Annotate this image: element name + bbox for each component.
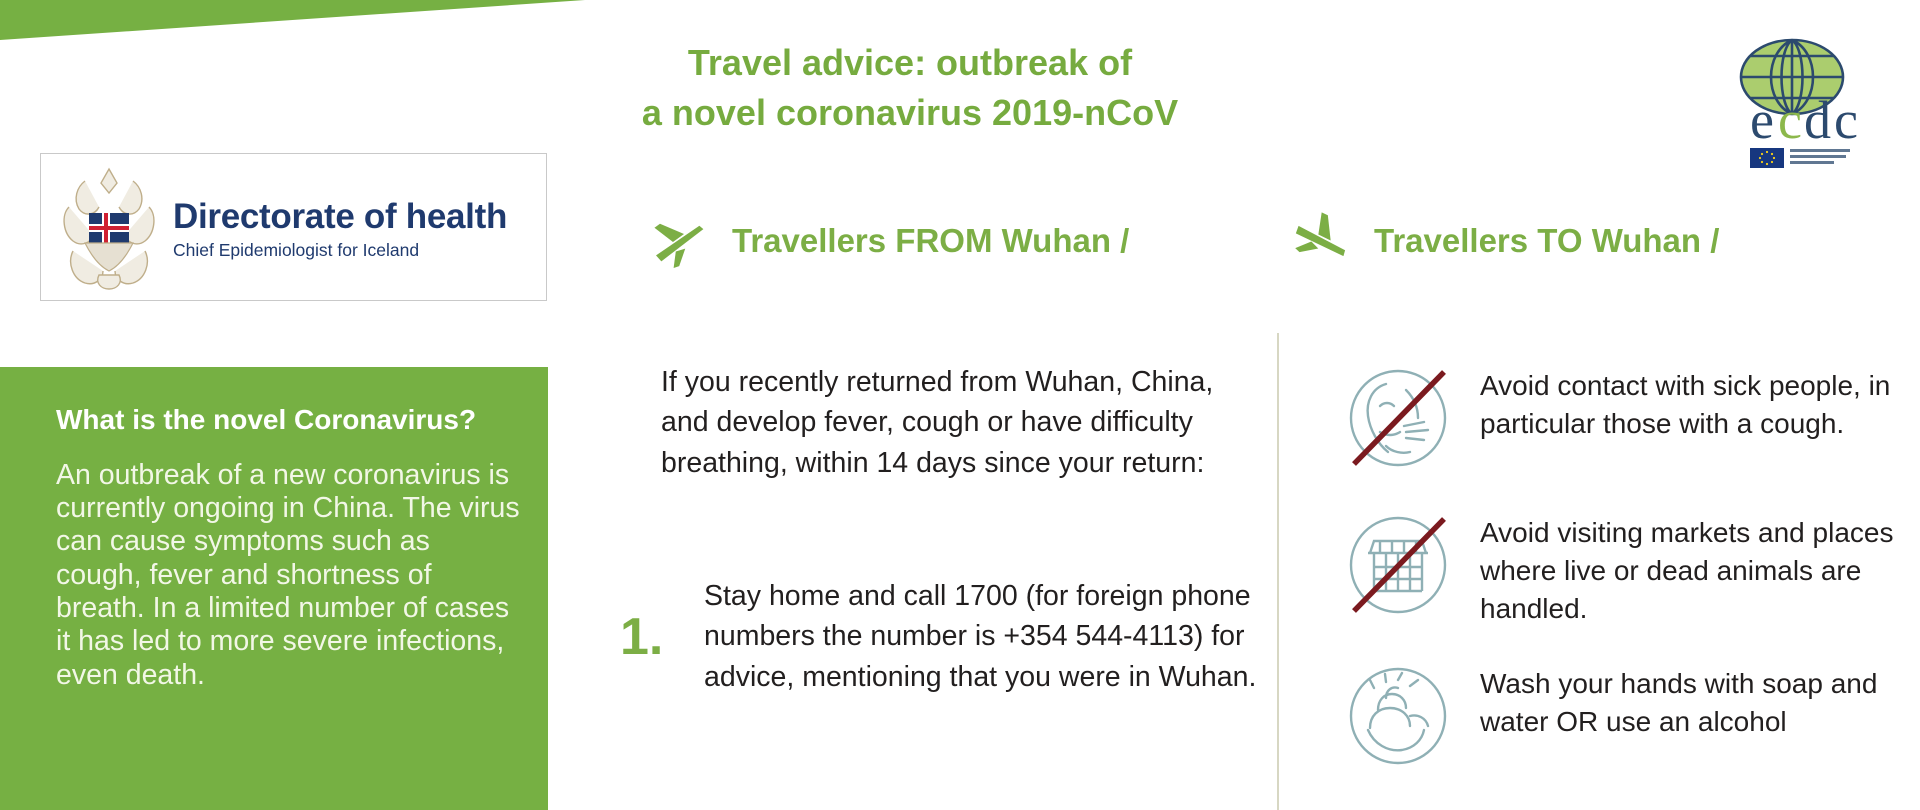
page-title: Travel advice: outbreak of a novel coron… <box>560 38 1260 137</box>
step-number: 1. <box>620 607 682 667</box>
list-item: 1. Stay home and call 1700 (for foreign … <box>620 576 1260 697</box>
step-text: Stay home and call 1700 (for foreign pho… <box>704 576 1260 697</box>
column-header-from-label: Travellers FROM Wuhan / <box>732 222 1129 260</box>
advice-text: Avoid visiting markets and places where … <box>1480 507 1900 627</box>
directorate-of-health-logo: Directorate of health Chief Epidemiologi… <box>40 153 547 301</box>
advice-text: Avoid contact with sick people, in parti… <box>1480 360 1900 443</box>
ecdc-logo: e c d c <box>1720 30 1878 170</box>
iceland-coat-of-arms-icon <box>55 163 163 291</box>
wash-hands-icon <box>1340 658 1456 774</box>
column-header-travellers-to: Travellers TO Wuhan / <box>1290 212 1719 270</box>
svg-text:e: e <box>1750 90 1774 150</box>
column-divider <box>1277 333 1279 810</box>
svg-text:c: c <box>1778 90 1802 150</box>
no-sick-person-icon <box>1340 360 1456 476</box>
airplane-arrival-icon <box>1290 212 1352 270</box>
svg-text:d: d <box>1804 90 1831 150</box>
doh-logo-subtitle: Chief Epidemiologist for Iceland <box>173 240 507 261</box>
svg-text:c: c <box>1834 90 1858 150</box>
list-item: Avoid contact with sick people, in parti… <box>1340 360 1900 476</box>
travellers-from-intro: If you recently returned from Wuhan, Chi… <box>661 362 1261 483</box>
green-diagonal-banner <box>0 0 585 40</box>
list-item: Avoid visiting markets and places where … <box>1340 507 1900 627</box>
travellers-to-advice-list: Avoid contact with sick people, in parti… <box>1340 360 1900 805</box>
info-box-heading: What is the novel Coronavirus? <box>56 404 522 437</box>
page-title-line1: Travel advice: outbreak of <box>560 38 1260 88</box>
airplane-departure-icon <box>648 212 710 270</box>
travellers-from-steps: 1. Stay home and call 1700 (for foreign … <box>620 576 1260 697</box>
page-title-line2: a novel coronavirus 2019-nCoV <box>560 88 1260 138</box>
doh-logo-title: Directorate of health <box>173 199 507 236</box>
no-market-stall-icon <box>1340 507 1456 623</box>
column-header-to-label: Travellers TO Wuhan / <box>1374 222 1719 260</box>
column-header-travellers-from: Travellers FROM Wuhan / <box>648 212 1129 270</box>
info-box-novel-coronavirus: What is the novel Coronavirus? An outbre… <box>0 367 548 810</box>
list-item: Wash your hands with soap and water OR u… <box>1340 658 1900 774</box>
advice-text: Wash your hands with soap and water OR u… <box>1480 658 1900 741</box>
info-box-body: An outbreak of a new coronavirus is curr… <box>56 459 522 692</box>
doh-logo-text: Directorate of health Chief Epidemiologi… <box>173 193 507 262</box>
infographic-page: Directorate of health Chief Epidemiologi… <box>0 0 1920 810</box>
eu-flag-icon <box>1750 148 1784 168</box>
